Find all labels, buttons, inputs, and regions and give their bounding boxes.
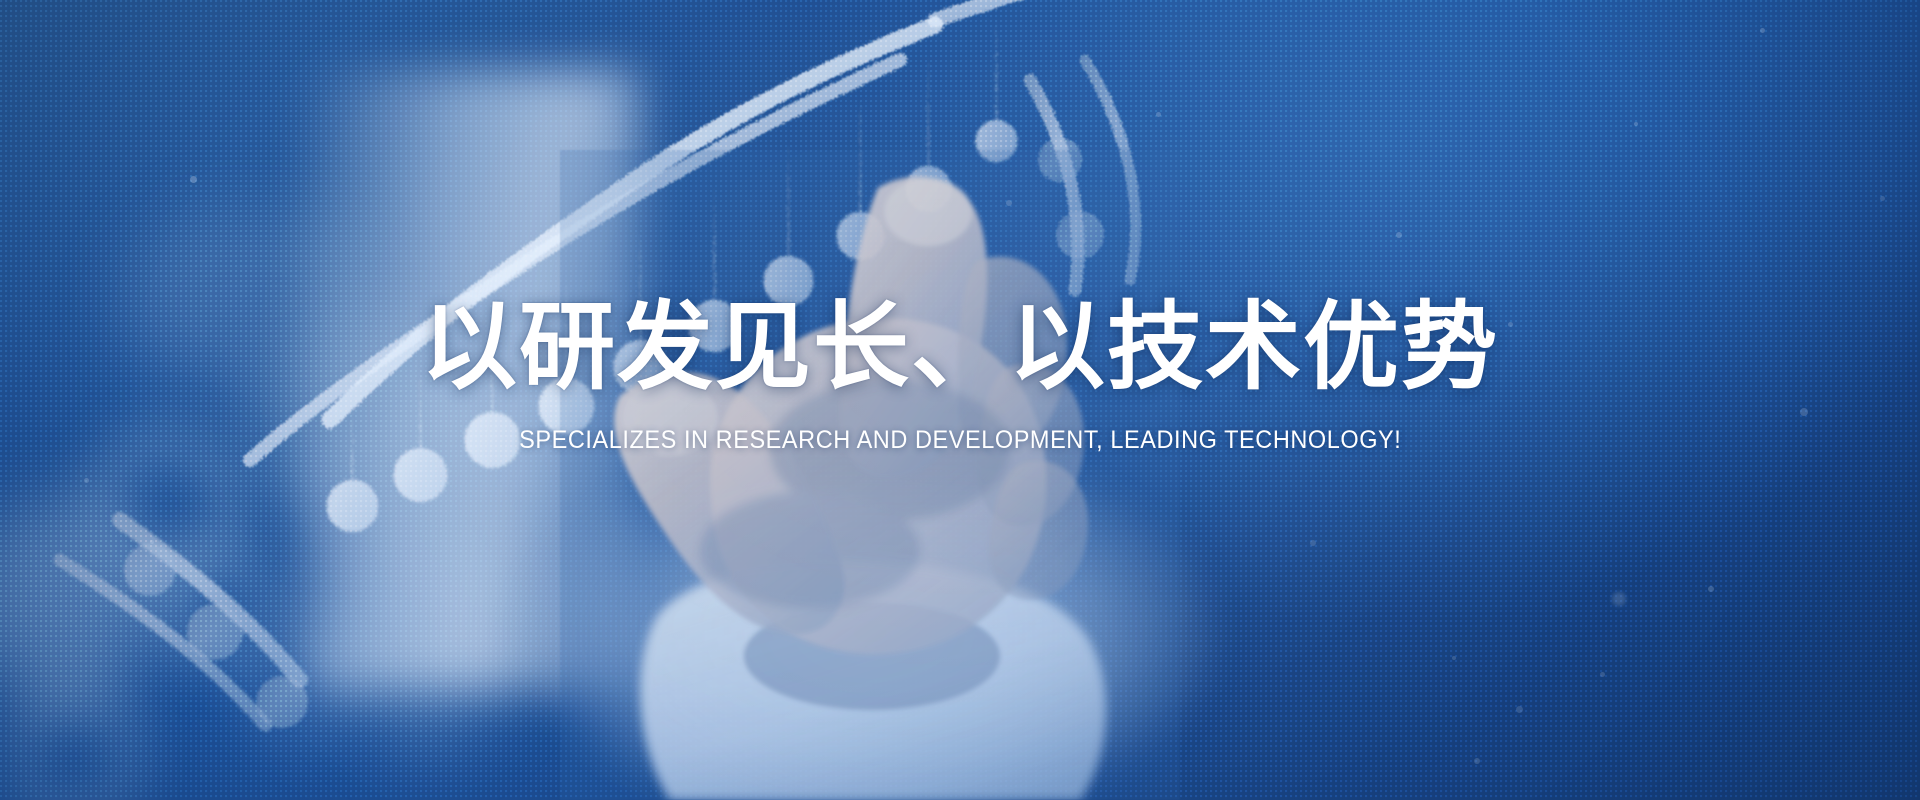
banner-headline: 以研发见长、以技术优势 [421, 296, 1499, 400]
banner-content: 以研发见长、以技术优势 SPECIALIZES IN RESEARCH AND … [0, 0, 1920, 800]
hero-banner: 以研发见长、以技术优势 SPECIALIZES IN RESEARCH AND … [0, 0, 1920, 800]
banner-subtitle: SPECIALIZES IN RESEARCH AND DEVELOPMENT,… [519, 426, 1401, 455]
